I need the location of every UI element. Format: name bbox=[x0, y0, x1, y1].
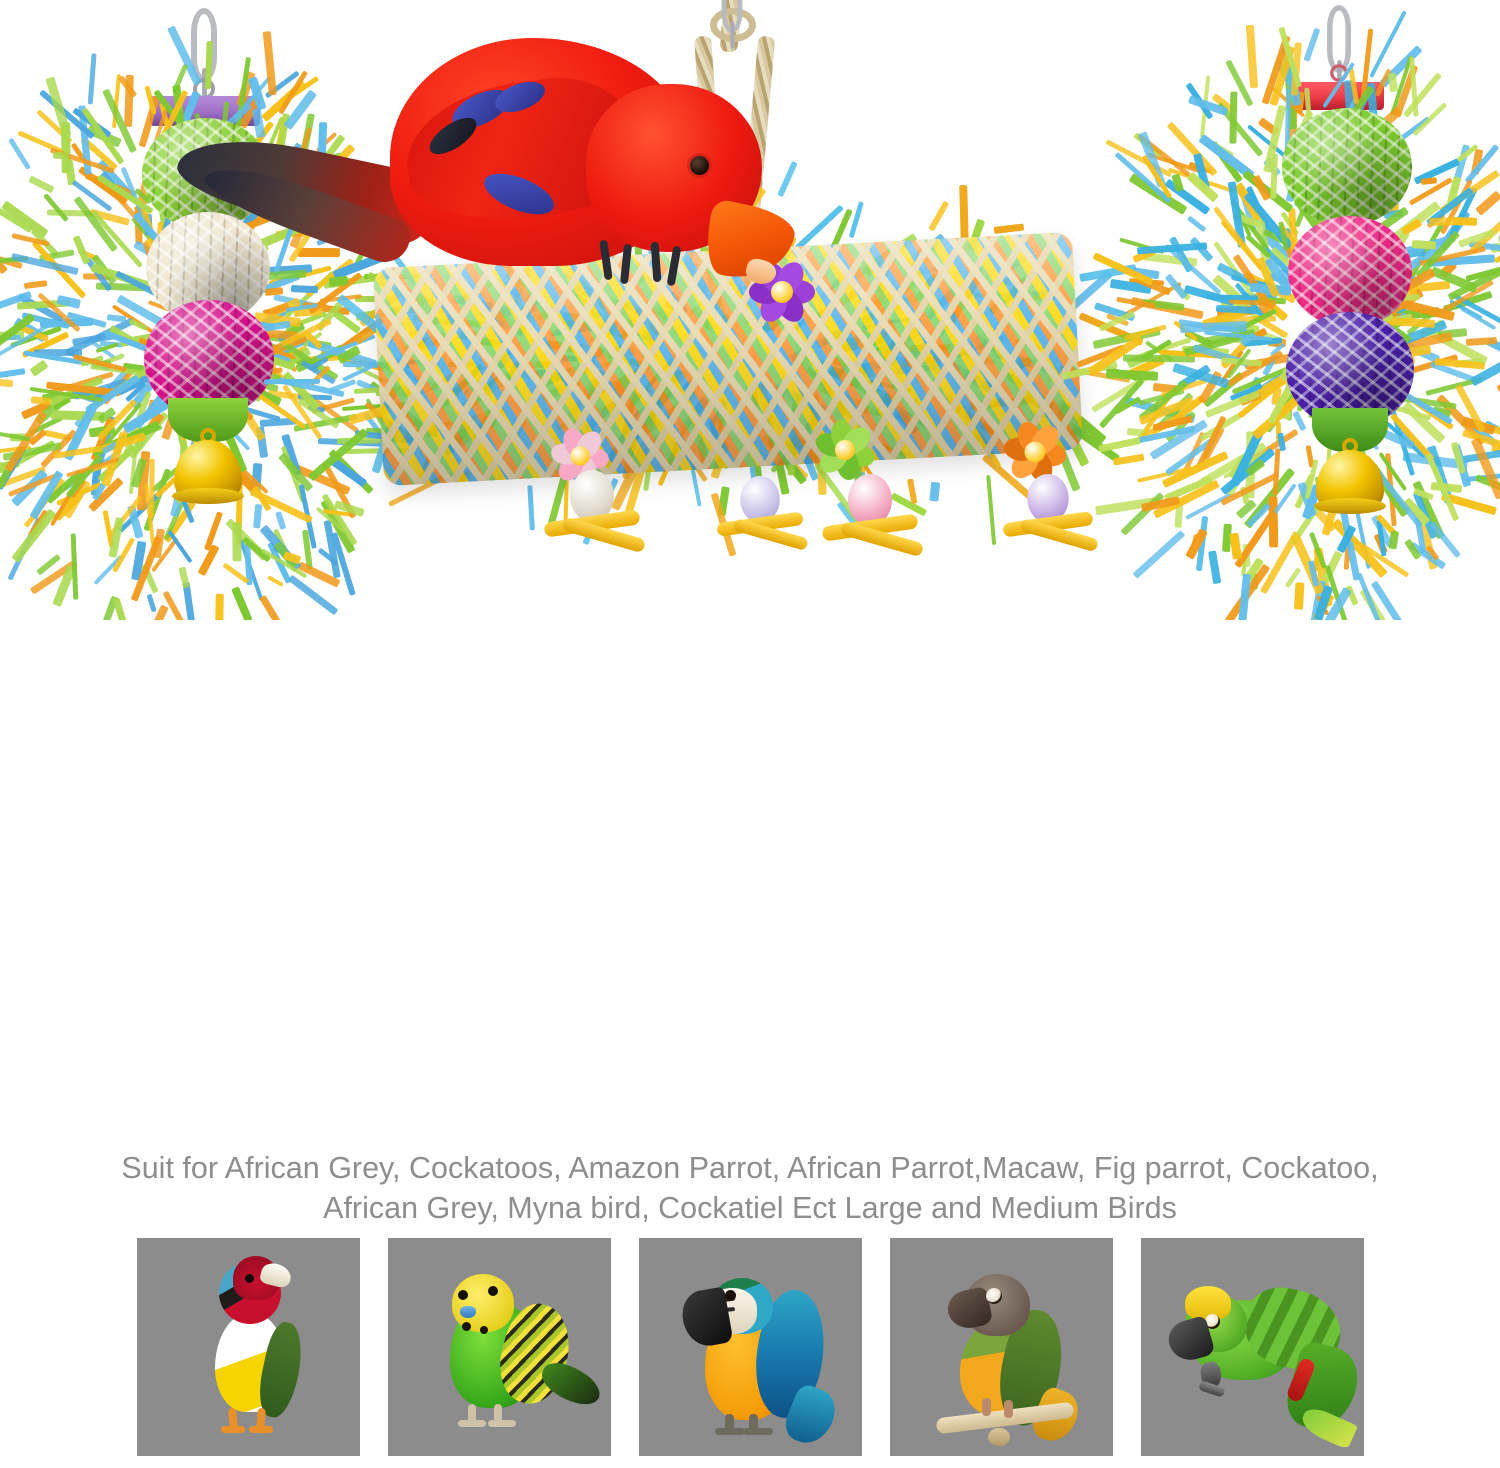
product-infographic: 100%Natural Material Safe to Chew and Pl… bbox=[0, 0, 1500, 1468]
bullet-dot-icon bbox=[300, 679, 326, 705]
left-hanging-toy bbox=[0, 0, 380, 620]
bullet-dot-icon bbox=[300, 801, 326, 827]
compatibility-caption: Suit for African Grey, Cockatoos, Amazon… bbox=[0, 1148, 1500, 1228]
metal-clip-icon bbox=[1327, 5, 1351, 73]
gouldian-finch-illustration bbox=[137, 1238, 360, 1456]
red-lory-bird bbox=[390, 38, 790, 298]
caption-line-1: Suit for African Grey, Cockatoos, Amazon… bbox=[0, 1148, 1500, 1188]
senegal-parrot-illustration bbox=[890, 1238, 1113, 1456]
amazon-parrot-illustration bbox=[1141, 1238, 1364, 1456]
feature-item: Unique Design bbox=[0, 875, 1500, 997]
feature-item: Hours of Fun bbox=[0, 997, 1500, 1119]
thumbnail-amazon-parrot bbox=[1141, 1238, 1364, 1456]
thumbnail-senegal-parrot bbox=[890, 1238, 1113, 1456]
budgerigar-illustration bbox=[388, 1238, 611, 1456]
feature-label: 100%Natural Material bbox=[366, 655, 1097, 730]
bird-thumbnail-strip bbox=[0, 1238, 1500, 1458]
thumbnail-gouldian-finch bbox=[137, 1238, 360, 1456]
feature-list: 100%Natural Material Safe to Chew and Pl… bbox=[0, 620, 1500, 1130]
right-hanging-toy bbox=[1130, 0, 1500, 620]
caption-line-2: African Grey, Myna bird, Cockatiel Ect L… bbox=[0, 1188, 1500, 1228]
feature-label: Safe to Chew and Play bbox=[366, 777, 1139, 852]
feature-band: 100%Natural Material Safe to Chew and Pl… bbox=[0, 620, 1500, 1130]
blue-and-gold-macaw-illustration bbox=[639, 1238, 862, 1456]
thumbnail-blue-and-gold-macaw bbox=[639, 1238, 862, 1456]
rattan-ball-green bbox=[1282, 108, 1412, 226]
bullet-dot-icon bbox=[300, 923, 326, 949]
feature-item: Safe to Chew and Play bbox=[0, 753, 1500, 875]
center-foraging-mat-with-bird bbox=[330, 0, 1130, 620]
bullet-dot-icon bbox=[300, 1045, 326, 1071]
feature-label: Unique Design bbox=[366, 899, 864, 974]
thumbnail-budgerigar bbox=[388, 1238, 611, 1456]
bird-eye bbox=[690, 156, 709, 175]
product-photo-band bbox=[0, 0, 1500, 620]
feature-item: 100%Natural Material bbox=[0, 631, 1500, 753]
feature-label: Hours of Fun bbox=[366, 1021, 806, 1096]
